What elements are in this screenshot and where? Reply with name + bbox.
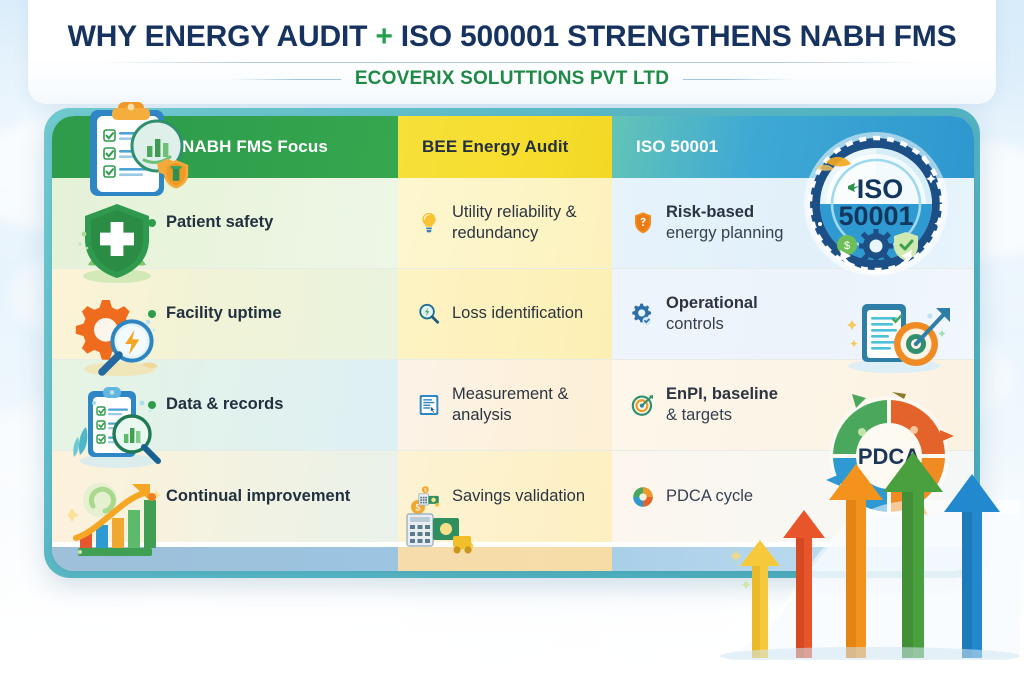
cell-iso-enpi-baseline[interactable]: EnPI, baseline& targets <box>612 360 974 450</box>
cell-label: Savings validation <box>452 486 585 507</box>
subtitle-dash-right <box>683 79 793 80</box>
bottom-bar-segment <box>398 547 612 571</box>
lightbulb-icon <box>416 210 442 236</box>
column-header-iso[interactable]: ISO 50001 <box>612 116 974 178</box>
title-part-1: WHY ENERGY AUDIT <box>68 20 376 53</box>
report-analysis-icon <box>416 392 442 418</box>
gear-controls-icon <box>630 301 656 327</box>
cell-label-light: PDCA cycle <box>666 487 753 505</box>
bottom-bar-segment <box>52 547 398 571</box>
table-row: Patient safety Utility reliability & red… <box>52 178 974 269</box>
infographic-canvas: WHY ENERGY AUDIT + ISO 500001 STRENGTHEN… <box>0 0 1024 683</box>
cell-label: Data & records <box>166 394 283 415</box>
title-plus-symbol: + <box>375 20 392 53</box>
cell-label: PDCA cycle <box>666 486 753 507</box>
target-arrow-icon <box>630 392 656 418</box>
risk-shield-icon <box>630 210 656 236</box>
table-row: Data & records <box>52 360 974 451</box>
ground-fade <box>0 587 1024 683</box>
cell-label: Utility reliability & redundancy <box>452 202 598 244</box>
table-bottom-bar <box>52 547 974 571</box>
cell-label: Patient safety <box>166 212 273 233</box>
comparison-table: NABH FMS Focus BEE Energy Audit ISO 5000… <box>52 116 974 571</box>
cycle-icon <box>630 484 656 510</box>
subtitle-dash-left <box>231 79 341 80</box>
column-header-label: BEE Energy Audit <box>422 137 568 157</box>
cell-label-bold: Operational <box>666 294 758 312</box>
column-header-nabh[interactable]: NABH FMS Focus <box>52 116 398 178</box>
cell-bee-savings-validation[interactable]: $ <box>398 451 612 542</box>
cell-bee-measurement-analysis[interactable]: Measurement & analysis <box>398 360 612 450</box>
table-row: Continual improvement $ <box>52 451 974 542</box>
title-divider <box>100 62 924 63</box>
cell-label-light: & targets <box>666 406 732 424</box>
column-header-label: NABH FMS Focus <box>182 137 328 157</box>
cell-label: Facility uptime <box>166 303 282 324</box>
cell-label-bold: Risk-based <box>666 203 754 221</box>
cell-nabh-continual-improvement[interactable]: Continual improvement <box>52 451 398 542</box>
cell-nabh-patient-safety[interactable]: Patient safety <box>52 178 398 268</box>
bottom-bar-segment <box>612 547 974 571</box>
cloud-decoration <box>120 573 420 663</box>
cell-label: EnPI, baseline& targets <box>666 384 778 426</box>
company-subtitle: ECOVERIX SOLUTTIONS PVT LTD <box>355 68 669 90</box>
cell-label: Measurement & analysis <box>452 384 598 426</box>
cell-label: Operationalcontrols <box>666 293 758 335</box>
cell-nabh-data-records[interactable]: Data & records <box>52 360 398 450</box>
bullet-icon <box>148 401 156 409</box>
cell-label-light: controls <box>666 315 724 333</box>
comparison-table-card: NABH FMS Focus BEE Energy Audit ISO 5000… <box>52 116 974 571</box>
cell-label: Risk-basedenergy planning <box>666 202 783 244</box>
magnifier-bolt-icon <box>416 301 442 327</box>
table-row: Facility uptime Loss identification <box>52 269 974 360</box>
cell-label: Continual improvement <box>166 486 350 507</box>
bullet-icon <box>148 493 156 501</box>
title-part-2: ISO 500001 STRENGTHENS NABH FMS <box>393 20 957 53</box>
cell-iso-pdca-cycle[interactable]: PDCA cycle <box>612 451 974 542</box>
cell-label-bold: EnPI, baseline <box>666 385 778 403</box>
bullet-icon <box>148 219 156 227</box>
cell-label: Loss identification <box>452 303 583 324</box>
column-header-label: ISO 50001 <box>636 137 718 157</box>
table-body: Patient safety Utility reliability & red… <box>52 178 974 571</box>
calculator-money-icon: $ <box>416 484 442 510</box>
cell-iso-risk-based-planning[interactable]: Risk-basedenergy planning <box>612 178 974 268</box>
bullet-icon <box>148 310 156 318</box>
cell-nabh-facility-uptime[interactable]: Facility uptime <box>52 269 398 359</box>
cell-iso-operational-controls[interactable]: Operationalcontrols <box>612 269 974 359</box>
column-header-bee[interactable]: BEE Energy Audit <box>398 116 612 178</box>
svg-text:$: $ <box>424 487 427 493</box>
table-header-row: NABH FMS Focus BEE Energy Audit ISO 5000… <box>52 116 974 178</box>
page-title: WHY ENERGY AUDIT + ISO 500001 STRENGTHEN… <box>28 20 996 54</box>
cell-bee-loss-identification[interactable]: Loss identification <box>398 269 612 359</box>
subtitle-row: ECOVERIX SOLUTTIONS PVT LTD <box>28 68 996 90</box>
cell-label-light: energy planning <box>666 224 783 242</box>
cell-bee-utility-reliability[interactable]: Utility reliability & redundancy <box>398 178 612 268</box>
